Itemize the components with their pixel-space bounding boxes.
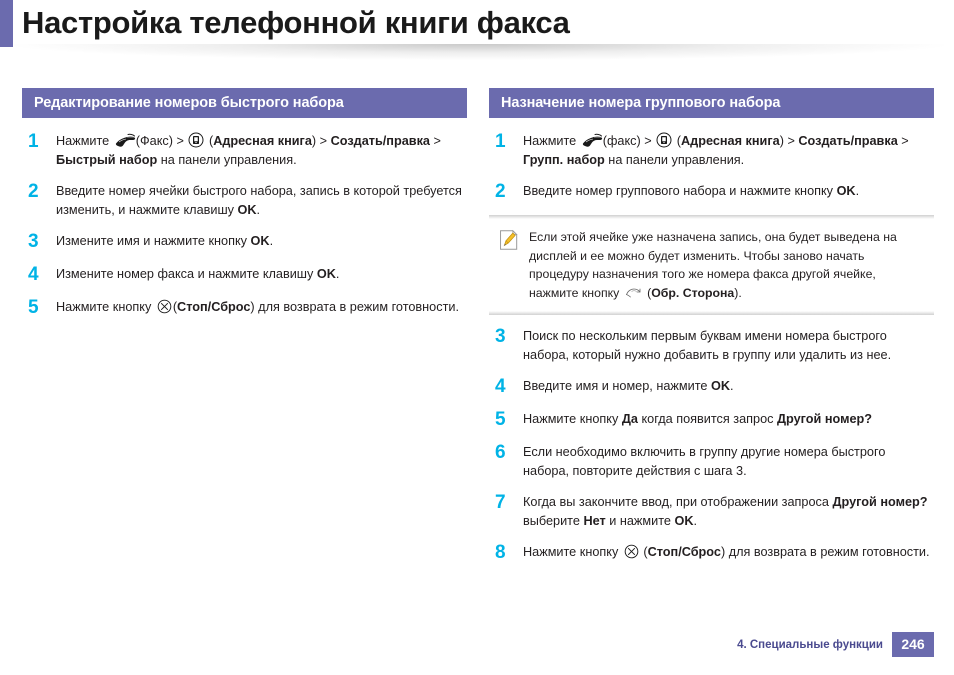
emphasis-text: Быстрый набор: [56, 153, 157, 167]
emphasis-text: Стоп/Сброс: [648, 545, 721, 559]
instruction-step: 8Нажмите кнопку (Стоп/Сброс) для возврат…: [489, 543, 934, 563]
step-number: 1: [22, 132, 56, 152]
step-text: Введите номер группового набора и нажмит…: [523, 182, 934, 201]
emphasis-text: Групп. набор: [523, 153, 605, 167]
footer-chapter-label: 4. Специальные функции: [737, 639, 883, 651]
emphasis-text: OK: [837, 184, 856, 198]
emphasis-text: Да: [622, 412, 638, 426]
step-number: 4: [22, 265, 56, 285]
step-number: 3: [22, 232, 56, 252]
emphasis-text: OK: [251, 234, 270, 248]
step-number: 4: [489, 377, 523, 397]
instruction-step: 4Введите имя и номер, нажмите OK.: [489, 377, 934, 397]
fax-icon: [582, 133, 603, 148]
fax-icon: [115, 133, 136, 148]
note-pencil-icon: [499, 229, 519, 251]
note-rule-bottom: [489, 311, 934, 315]
note-rule-top: [489, 215, 934, 219]
instruction-step: 4Измените номер факса и нажмите клавишу …: [22, 265, 467, 285]
emphasis-text: Создать/правка: [798, 134, 897, 148]
step-text: Нажмите кнопку (Стоп/Сброс) для возврата…: [523, 543, 934, 562]
header-divider-shadow: [14, 44, 944, 60]
step-number: 5: [489, 410, 523, 430]
step-text: Нажмите (Факс) > (Адресная книга) > Созд…: [56, 132, 467, 169]
step-number: 5: [22, 298, 56, 318]
note-box: Если этой ячейке уже назначена запись, о…: [489, 215, 934, 315]
instruction-step: 2Введите номер ячейки быстрого набора, з…: [22, 182, 467, 219]
right-steps-list-after-note: 3Поиск по нескольким первым буквам имени…: [489, 327, 934, 563]
address-book-icon: [188, 132, 204, 148]
instruction-step: 5Нажмите кнопку (Стоп/Сброс) для возврат…: [22, 298, 467, 318]
footer-page-number: 246: [892, 632, 934, 657]
page-title: Настройка телефонной книги факса: [22, 1, 570, 45]
step-text: Когда вы закончите ввод, при отображении…: [523, 493, 934, 530]
instruction-step: 2Введите номер группового набора и нажми…: [489, 182, 934, 202]
emphasis-text: OK: [317, 267, 336, 281]
step-number: 6: [489, 443, 523, 463]
step-number: 8: [489, 543, 523, 563]
emphasis-text: Адресная книга: [681, 134, 780, 148]
section-header-group-dial: Назначение номера группового набора: [489, 88, 934, 118]
step-text: Измените номер факса и нажмите клавишу O…: [56, 265, 467, 284]
instruction-step: 6Если необходимо включить в группу други…: [489, 443, 934, 480]
emphasis-text: OK: [674, 514, 693, 528]
step-text: Поиск по нескольким первым буквам имени …: [523, 327, 934, 364]
note-pencil-icon: [495, 228, 529, 253]
instruction-step: 5Нажмите кнопку Да когда появится запрос…: [489, 410, 934, 430]
instruction-step: 3Измените имя и нажмите кнопку OK.: [22, 232, 467, 252]
section-header-speed-dial-label: Редактирование номеров быстрого набора: [34, 95, 344, 111]
instruction-step: 1Нажмите (Факс) > (Адресная книга) > Соз…: [22, 132, 467, 169]
page-header: Настройка телефонной книги факса: [0, 0, 954, 47]
emphasis-text: Другой номер?: [832, 495, 927, 509]
instruction-step: 7Когда вы закончите ввод, при отображени…: [489, 493, 934, 530]
step-text: Если необходимо включить в группу другие…: [523, 443, 934, 480]
instruction-step: 1Нажмите (факс) > (Адресная книга) > Соз…: [489, 132, 934, 169]
right-steps-list-before-note: 1Нажмите (факс) > (Адресная книга) > Соз…: [489, 132, 934, 202]
back-side-icon: [625, 287, 642, 298]
emphasis-text: OK: [711, 379, 730, 393]
address-book-icon: [656, 132, 672, 148]
emphasis-text: OK: [238, 203, 257, 217]
footer: 4. Специальные функции 246: [737, 632, 934, 657]
stop-reset-icon: [157, 299, 172, 314]
emphasis-text: Стоп/Сброс: [177, 300, 250, 314]
emphasis-text: Другой номер?: [777, 412, 872, 426]
stop-reset-icon: [624, 544, 639, 559]
note-text: Если этой ячейке уже назначена запись, о…: [529, 228, 926, 302]
section-header-group-dial-label: Назначение номера группового набора: [501, 95, 780, 111]
step-number: 2: [22, 182, 56, 202]
step-text: Введите номер ячейки быстрого набора, за…: [56, 182, 467, 219]
step-text: Измените имя и нажмите кнопку OK.: [56, 232, 467, 251]
instruction-step: 3Поиск по нескольким первым буквам имени…: [489, 327, 934, 364]
left-column: Редактирование номеров быстрого набора 1…: [22, 88, 467, 331]
step-text: Введите имя и номер, нажмите OK.: [523, 377, 934, 396]
emphasis-text: Адресная книга: [213, 134, 312, 148]
section-header-speed-dial: Редактирование номеров быстрого набора: [22, 88, 467, 118]
step-number: 7: [489, 493, 523, 513]
right-column: Назначение номера группового набора 1Наж…: [489, 88, 934, 576]
step-number: 3: [489, 327, 523, 347]
emphasis-text: Создать/правка: [331, 134, 430, 148]
step-text: Нажмите кнопку (Стоп/Сброс) для возврата…: [56, 298, 467, 317]
emphasis-text: Нет: [583, 514, 605, 528]
left-steps-list: 1Нажмите (Факс) > (Адресная книга) > Соз…: [22, 132, 467, 318]
step-number: 2: [489, 182, 523, 202]
header-accent-bar: [0, 0, 13, 47]
step-number: 1: [489, 132, 523, 152]
step-text: Нажмите (факс) > (Адресная книга) > Созд…: [523, 132, 934, 169]
emphasis-text: Обр. Сторона: [651, 286, 734, 300]
step-text: Нажмите кнопку Да когда появится запрос …: [523, 410, 934, 429]
